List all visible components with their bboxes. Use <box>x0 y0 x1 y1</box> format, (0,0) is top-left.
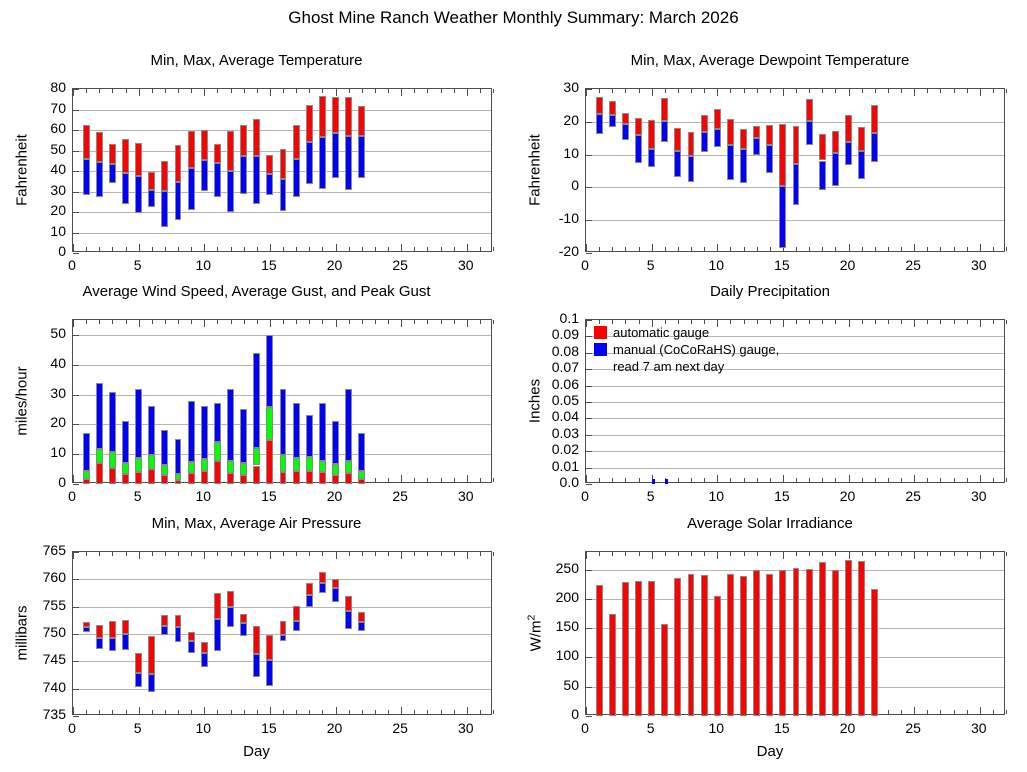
gridline <box>586 220 1004 221</box>
x-tick-top <box>309 552 310 556</box>
x-tick-top <box>322 89 323 93</box>
x-tick-top <box>362 89 363 93</box>
bar-min-segment <box>358 622 365 631</box>
x-tick-label: 30 <box>446 257 486 273</box>
bar-max-segment <box>332 579 339 588</box>
x-tick-label: 15 <box>762 488 802 504</box>
bar-min-segment <box>793 164 800 205</box>
x-tick-top <box>586 320 587 327</box>
y-tick-label: 20 <box>527 112 579 128</box>
bar-min-segment <box>214 163 221 197</box>
y-tick <box>73 634 79 635</box>
bar-min-segment <box>214 619 221 651</box>
x-tick-top <box>678 320 679 324</box>
bar-max-segment <box>188 131 195 168</box>
bar-peak-gust-segment <box>214 403 221 442</box>
x-tick-top <box>822 320 823 324</box>
x-tick-top <box>165 89 166 93</box>
bar-solar <box>661 624 668 716</box>
plot-area-solar <box>585 551 1005 715</box>
x-tick-label: 15 <box>762 257 802 273</box>
bar-max-segment <box>201 130 208 160</box>
bar-max-segment <box>280 621 287 635</box>
y-tick <box>73 395 79 396</box>
y-tick-label: 80 <box>14 79 66 95</box>
y-tick <box>73 689 79 690</box>
x-tick <box>678 478 679 482</box>
x-tick <box>993 710 994 714</box>
x-tick-top <box>914 552 915 559</box>
y-tick <box>73 484 79 485</box>
bar-solar <box>740 576 747 716</box>
bar-max-segment <box>819 134 826 161</box>
x-tick <box>967 247 968 251</box>
x-tick <box>888 710 889 714</box>
x-tick <box>126 247 127 251</box>
x-tick <box>375 247 376 251</box>
bar-avg-wind-segment <box>148 469 155 484</box>
x-tick-top <box>599 552 600 556</box>
x-tick-top <box>165 552 166 556</box>
bar-avg-wind-segment <box>293 471 300 484</box>
chart-temperature: Min, Max, Average Temperature01020304050… <box>0 52 513 284</box>
x-tick-top <box>849 320 850 327</box>
bar-min-segment <box>819 161 826 191</box>
x-tick-label: 0 <box>52 257 92 273</box>
bar-peak-gust-segment <box>227 389 234 462</box>
x-tick <box>73 244 74 251</box>
x-tick-top <box>1006 552 1007 556</box>
chart-title-wind: Average Wind Speed, Average Gust, and Pe… <box>0 283 513 300</box>
x-tick-top <box>336 320 337 327</box>
x-tick-top <box>244 89 245 93</box>
x-tick <box>783 475 784 482</box>
x-tick <box>454 247 455 251</box>
x-tick-top <box>204 89 205 96</box>
x-tick-label: 30 <box>446 720 486 736</box>
x-tick <box>388 478 389 482</box>
x-tick-top <box>967 320 968 324</box>
x-tick <box>467 475 468 482</box>
x-tick-top <box>809 89 810 93</box>
x-tick-top <box>493 89 494 93</box>
bar-min-segment <box>188 641 195 653</box>
y-tick-label: 740 <box>14 679 66 695</box>
x-tick-top <box>612 552 613 556</box>
x-tick <box>849 475 850 482</box>
bar-manual-gauge <box>652 479 655 484</box>
bar-max-segment <box>293 606 300 621</box>
bar-max-segment <box>332 97 339 133</box>
y-axis-title-solar: W/m2 <box>526 615 545 652</box>
bar-min-segment <box>727 145 734 180</box>
bar-avg-gust-segment <box>358 471 365 479</box>
x-tick-top <box>401 552 402 559</box>
bar-min-segment <box>240 623 247 636</box>
bar-max-segment <box>109 621 116 638</box>
gridline <box>73 579 491 580</box>
x-tick <box>244 710 245 714</box>
y-tick <box>586 386 592 387</box>
bar-max-segment <box>280 149 287 179</box>
y-tick-label: 0.02 <box>527 441 579 457</box>
bar-min-segment <box>832 153 839 186</box>
x-tick <box>217 247 218 251</box>
bar-min-segment <box>779 186 786 247</box>
x-tick-top <box>112 552 113 556</box>
x-tick <box>954 710 955 714</box>
x-tick-top <box>388 320 389 324</box>
x-tick-label: 10 <box>183 257 223 273</box>
x-tick-label: 15 <box>249 257 289 273</box>
x-tick-top <box>191 552 192 556</box>
x-tick-top <box>940 89 941 93</box>
y-tick <box>586 155 592 156</box>
x-tick-label: 0 <box>565 257 605 273</box>
x-tick-top <box>401 89 402 96</box>
x-tick <box>388 710 389 714</box>
x-tick <box>99 710 100 714</box>
x-tick <box>480 247 481 251</box>
x-tick <box>770 478 771 482</box>
x-axis-title-pressure: Day <box>0 743 513 760</box>
x-tick <box>296 710 297 714</box>
bar-min-segment <box>345 136 352 191</box>
legend-label: manual (CoCoRaHS) gauge, <box>613 342 779 357</box>
x-tick <box>901 478 902 482</box>
x-tick <box>1006 247 1007 251</box>
bar-solar <box>727 574 734 716</box>
y-tick-label: 10 <box>14 444 66 460</box>
x-tick-top <box>783 89 784 96</box>
x-tick <box>244 247 245 251</box>
bar-avg-wind-segment <box>188 473 195 484</box>
x-tick-label: 15 <box>762 720 802 736</box>
x-tick <box>388 247 389 251</box>
bar-solar <box>871 589 878 716</box>
bar-max-segment <box>83 125 90 158</box>
x-tick-top <box>875 552 876 556</box>
x-tick <box>401 707 402 714</box>
x-tick-top <box>665 89 666 93</box>
bar-max-segment <box>319 572 326 583</box>
plot-area-temperature <box>72 88 492 252</box>
x-tick-top <box>822 89 823 93</box>
x-tick <box>639 478 640 482</box>
bar-min-segment <box>648 149 655 168</box>
x-tick <box>441 478 442 482</box>
x-tick <box>914 475 915 482</box>
bar-max-segment <box>832 131 839 153</box>
bar-avg-wind-segment <box>240 475 247 484</box>
x-tick-top <box>849 552 850 559</box>
bar-peak-gust-segment <box>358 433 365 471</box>
bar-avg-gust-segment <box>266 407 273 440</box>
bar-min-segment <box>135 176 142 213</box>
x-tick-top <box>757 89 758 93</box>
x-tick-top <box>178 89 179 93</box>
bar-min-segment <box>871 133 878 162</box>
x-tick-top <box>980 89 981 96</box>
y-tick <box>73 110 79 111</box>
bar-min-segment <box>806 121 813 145</box>
bar-max-segment <box>214 144 221 163</box>
y-tick <box>73 424 79 425</box>
x-tick-label: 20 <box>315 720 355 736</box>
legend-swatch <box>594 326 607 339</box>
x-tick-top <box>427 320 428 324</box>
y-tick <box>586 657 592 658</box>
bar-min-segment <box>253 654 260 677</box>
gridline <box>586 435 1004 436</box>
x-tick-top <box>414 320 415 324</box>
x-tick-top <box>835 552 836 556</box>
bar-max-segment <box>661 98 668 121</box>
x-tick <box>454 478 455 482</box>
x-tick-top <box>322 320 323 324</box>
y-tick-label: 0.01 <box>527 458 579 474</box>
bar-min-segment <box>122 173 129 205</box>
y-axis-title-dewpoint: Fahrenheit <box>527 134 544 206</box>
y-tick <box>586 570 592 571</box>
y-tick <box>73 233 79 234</box>
x-tick <box>336 707 337 714</box>
x-tick-top <box>744 89 745 93</box>
bar-min-segment <box>701 132 708 153</box>
y-tick <box>73 579 79 580</box>
x-tick-top <box>954 320 955 324</box>
bar-min-segment <box>293 159 300 197</box>
x-tick-top <box>152 320 153 324</box>
x-tick <box>691 247 692 251</box>
bar-avg-wind-segment <box>306 471 313 484</box>
x-tick-top <box>954 89 955 93</box>
x-tick <box>165 247 166 251</box>
x-tick-top <box>704 320 705 324</box>
x-tick-top <box>86 89 87 93</box>
bar-max-segment <box>858 127 865 151</box>
x-tick <box>191 247 192 251</box>
bar-min-segment <box>161 626 168 635</box>
x-tick-top <box>427 89 428 93</box>
x-tick-top <box>441 320 442 324</box>
x-tick-top <box>757 552 758 556</box>
x-tick <box>309 710 310 714</box>
bar-peak-gust-segment <box>96 383 103 450</box>
y-tick <box>586 599 592 600</box>
bar-solar <box>793 568 800 716</box>
x-tick-top <box>652 552 653 559</box>
bar-avg-gust-segment <box>109 452 116 468</box>
y-tick <box>586 187 592 188</box>
bar-min-segment <box>227 171 234 213</box>
bar-max-segment <box>306 105 313 142</box>
bar-min-segment <box>319 583 326 593</box>
y-tick-label: 0.1 <box>527 310 579 326</box>
x-tick <box>809 478 810 482</box>
x-tick-top <box>73 89 74 96</box>
x-tick <box>336 244 337 251</box>
x-tick-top <box>99 89 100 93</box>
x-tick-top <box>730 552 731 556</box>
bar-max-segment <box>358 106 365 136</box>
x-tick <box>954 247 955 251</box>
bar-min-segment <box>740 149 747 183</box>
x-tick-top <box>375 552 376 556</box>
x-tick-label: 25 <box>893 257 933 273</box>
x-tick-top <box>480 552 481 556</box>
x-tick <box>967 710 968 714</box>
bar-peak-gust-segment <box>161 430 168 464</box>
x-tick <box>86 247 87 251</box>
x-tick-top <box>152 89 153 93</box>
x-tick-label: 20 <box>315 488 355 504</box>
x-tick-top <box>862 552 863 556</box>
bar-avg-wind-segment <box>96 463 103 484</box>
x-tick-label: 25 <box>893 488 933 504</box>
bar-peak-gust-segment <box>135 389 142 458</box>
y-tick <box>586 716 592 717</box>
bar-max-segment <box>596 97 603 114</box>
x-tick-top <box>349 89 350 93</box>
x-tick-top <box>257 89 258 93</box>
x-tick-top <box>730 320 731 324</box>
x-tick <box>835 478 836 482</box>
x-tick-top <box>414 552 415 556</box>
bar-min-segment <box>674 151 681 177</box>
x-tick-top <box>296 320 297 324</box>
x-tick-top <box>336 89 337 96</box>
x-tick-label: 5 <box>118 488 158 504</box>
x-tick <box>309 247 310 251</box>
bar-avg-wind-segment <box>201 471 208 484</box>
x-tick <box>86 710 87 714</box>
x-tick-top <box>270 552 271 559</box>
chart-title-solar: Average Solar Irradiance <box>513 515 1027 532</box>
x-tick-top <box>480 89 481 93</box>
x-tick <box>427 710 428 714</box>
x-tick <box>652 244 653 251</box>
x-tick-top <box>875 320 876 324</box>
x-tick-top <box>875 89 876 93</box>
x-tick <box>1006 710 1007 714</box>
x-tick-top <box>283 552 284 556</box>
bar-solar <box>806 569 813 716</box>
x-tick-label: 0 <box>52 488 92 504</box>
x-tick-top <box>783 552 784 559</box>
bar-min-segment <box>83 159 90 195</box>
y-tick <box>586 468 592 469</box>
x-tick-top <box>441 552 442 556</box>
bar-solar <box>845 560 852 716</box>
x-tick-top <box>770 89 771 93</box>
x-tick <box>639 247 640 251</box>
x-tick-top <box>283 320 284 324</box>
chart-precipitation: Daily Precipitationautomatic gaugemanual… <box>513 283 1027 515</box>
bar-avg-wind-segment <box>253 466 260 484</box>
x-tick-top <box>704 89 705 93</box>
y-tick <box>586 418 592 419</box>
bar-avg-gust-segment <box>253 448 260 466</box>
x-tick-top <box>480 320 481 324</box>
x-tick-top <box>612 89 613 93</box>
x-tick-top <box>178 552 179 556</box>
x-tick-top <box>862 320 863 324</box>
x-tick-top <box>388 552 389 556</box>
x-tick-top <box>126 552 127 556</box>
x-tick <box>231 710 232 714</box>
x-tick-top <box>639 89 640 93</box>
x-tick <box>665 247 666 251</box>
x-tick-top <box>849 89 850 96</box>
x-tick-top <box>454 89 455 93</box>
bar-max-segment <box>688 132 695 156</box>
bar-peak-gust-segment <box>122 421 129 463</box>
bar-avg-wind-segment <box>227 473 234 484</box>
bar-max-segment <box>674 128 681 151</box>
x-tick-top <box>704 552 705 556</box>
bar-max-segment <box>148 636 155 674</box>
x-tick <box>178 710 179 714</box>
x-tick <box>599 247 600 251</box>
bar-avg-gust-segment <box>240 463 247 475</box>
bar-max-segment <box>148 172 155 189</box>
bar-avg-wind-segment <box>83 479 90 484</box>
bar-max-segment <box>266 635 273 661</box>
legend-swatch <box>594 343 607 356</box>
x-tick <box>467 707 468 714</box>
x-tick-top <box>493 320 494 324</box>
y-tick <box>586 369 592 370</box>
bar-avg-gust-segment <box>135 458 142 472</box>
bar-avg-wind-segment <box>135 472 142 484</box>
x-tick <box>349 247 350 251</box>
bar-max-segment <box>240 125 247 156</box>
bar-min-segment <box>135 673 142 687</box>
chart-title-precipitation: Daily Precipitation <box>513 283 1027 300</box>
x-tick <box>73 707 74 714</box>
x-tick <box>480 710 481 714</box>
y-tick <box>73 130 79 131</box>
y-tick <box>73 365 79 366</box>
bar-solar <box>819 562 826 716</box>
x-tick-top <box>467 89 468 96</box>
bar-min-segment <box>96 162 103 197</box>
chart-title-temperature: Min, Max, Average Temperature <box>0 52 513 69</box>
x-tick <box>139 707 140 714</box>
bar-min-segment <box>201 160 208 191</box>
bar-max-segment <box>753 126 760 137</box>
x-tick <box>139 244 140 251</box>
x-tick <box>454 710 455 714</box>
y-tick-label: 200 <box>527 589 579 605</box>
bar-avg-wind-segment <box>122 474 129 484</box>
x-tick <box>625 478 626 482</box>
x-tick-top <box>112 89 113 93</box>
bar-avg-gust-segment <box>280 455 287 472</box>
y-tick <box>73 151 79 152</box>
bar-manual-gauge <box>665 479 668 484</box>
bar-min-segment <box>345 611 352 628</box>
x-tick-top <box>270 320 271 327</box>
x-tick-label: 30 <box>959 488 999 504</box>
x-tick <box>99 247 100 251</box>
x-tick <box>757 478 758 482</box>
bar-peak-gust-segment <box>345 389 352 461</box>
x-tick-top <box>454 320 455 324</box>
gridline <box>73 689 491 690</box>
bar-max-segment <box>793 126 800 164</box>
